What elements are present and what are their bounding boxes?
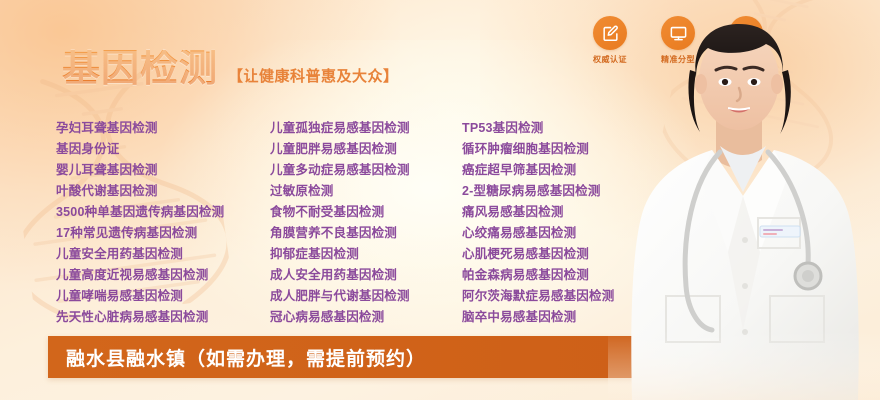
- list-item[interactable]: 脑卒中易感基因检测: [462, 307, 702, 328]
- monitor-icon: [661, 16, 695, 50]
- feature-badge-label: 轻松自检: [729, 56, 763, 64]
- feature-badge-group: 权威认证 精准分型 轻松自检: [584, 16, 772, 64]
- service-list: 孕妇耳聋基因检测 基因身份证 婴儿耳聋基因检测 叶酸代谢基因检测 3500种单基…: [56, 118, 736, 328]
- list-item[interactable]: 过敏原检测: [270, 181, 462, 202]
- list-item[interactable]: 心肌梗死易感基因检测: [462, 244, 702, 265]
- report-document-icon: [729, 16, 763, 50]
- poster-title-block: 基因检测 【让健康科普惠及大众】: [62, 50, 399, 88]
- feature-badge-label: 精准分型: [661, 56, 695, 64]
- feature-badge-selfcheck[interactable]: 轻松自检: [720, 16, 772, 64]
- list-item[interactable]: 3500种单基因遗传病基因检测: [56, 202, 270, 223]
- gene-testing-poster: 权威认证 精准分型 轻松自检: [0, 0, 880, 400]
- page-subtitle: 【让健康科普惠及大众】: [228, 69, 399, 84]
- list-item[interactable]: 17种常见遗传病基因检测: [56, 223, 270, 244]
- list-item[interactable]: 帕金森病易感基因检测: [462, 265, 702, 286]
- list-item[interactable]: 阿尔茨海默症易感基因检测: [462, 286, 702, 307]
- list-item[interactable]: 癌症超早筛基因检测: [462, 160, 702, 181]
- list-item[interactable]: 成人肥胖与代谢基因检测: [270, 286, 462, 307]
- feature-badge-label: 权威认证: [593, 56, 627, 64]
- location-banner: 融水县融水镇（如需办理，需提前预约）: [48, 336, 848, 378]
- list-item[interactable]: 基因身份证: [56, 139, 270, 160]
- list-item[interactable]: 2-型糖尿病易感基因检测: [462, 181, 702, 202]
- list-item[interactable]: 儿童高度近视易感基因检测: [56, 265, 270, 286]
- list-item[interactable]: 叶酸代谢基因检测: [56, 181, 270, 202]
- location-banner-text: 融水县融水镇（如需办理，需提前预约）: [66, 344, 426, 371]
- edit-document-icon: [593, 16, 627, 50]
- list-item[interactable]: 冠心病易感基因检测: [270, 307, 462, 328]
- list-item[interactable]: 循环肿瘤细胞基因检测: [462, 139, 702, 160]
- list-item[interactable]: 孕妇耳聋基因检测: [56, 118, 270, 139]
- list-item[interactable]: 先天性心脏病易感基因检测: [56, 307, 270, 328]
- service-list-column-1: 孕妇耳聋基因检测 基因身份证 婴儿耳聋基因检测 叶酸代谢基因检测 3500种单基…: [56, 118, 270, 328]
- list-item[interactable]: 抑郁症基因检测: [270, 244, 462, 265]
- list-item[interactable]: 成人安全用药基因检测: [270, 265, 462, 286]
- service-list-column-2: 儿童孤独症易感基因检测 儿童肥胖易感基因检测 儿童多动症易感基因检测 过敏原检测…: [270, 118, 462, 328]
- list-item[interactable]: 角膜营养不良基因检测: [270, 223, 462, 244]
- list-item[interactable]: 婴儿耳聋基因检测: [56, 160, 270, 181]
- list-item[interactable]: 食物不耐受基因检测: [270, 202, 462, 223]
- list-item[interactable]: 儿童肥胖易感基因检测: [270, 139, 462, 160]
- list-item[interactable]: 儿童多动症易感基因检测: [270, 160, 462, 181]
- feature-badge-authority[interactable]: 权威认证: [584, 16, 636, 64]
- list-item[interactable]: 儿童安全用药基因检测: [56, 244, 270, 265]
- list-item[interactable]: TP53基因检测: [462, 118, 702, 139]
- service-list-column-3: TP53基因检测 循环肿瘤细胞基因检测 癌症超早筛基因检测 2-型糖尿病易感基因…: [462, 118, 702, 328]
- page-title: 基因检测: [62, 50, 218, 88]
- list-item[interactable]: 儿童孤独症易感基因检测: [270, 118, 462, 139]
- list-item[interactable]: 心绞痛易感基因检测: [462, 223, 702, 244]
- list-item[interactable]: 痛风易感基因检测: [462, 202, 702, 223]
- feature-badge-typing[interactable]: 精准分型: [652, 16, 704, 64]
- list-item[interactable]: 儿童哮喘易感基因检测: [56, 286, 270, 307]
